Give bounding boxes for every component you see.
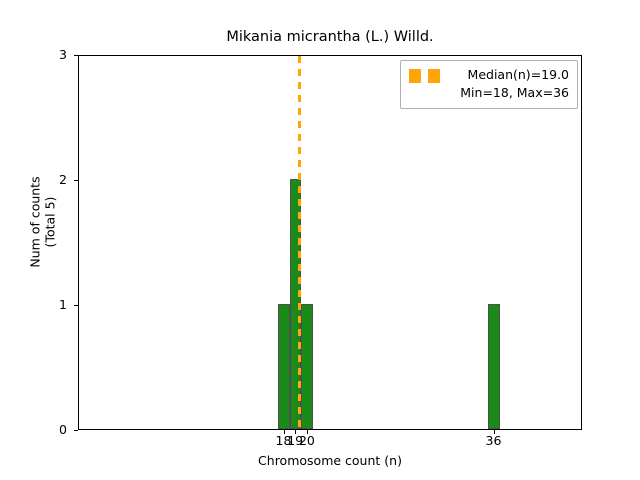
- y-tick-label-1: 1: [59, 299, 67, 311]
- x-tick-label-36: 36: [479, 434, 509, 448]
- legend-dashed-line-swatch: [409, 69, 445, 83]
- legend-entry-median: Median(n)=19.0 Min=18, Max=36: [409, 66, 569, 102]
- legend-entry-label: Median(n)=19.0 Min=18, Max=36: [454, 66, 569, 102]
- bar-18: [278, 304, 290, 429]
- bar-36: [488, 304, 500, 429]
- plot-area: [78, 55, 582, 430]
- legend-median-text: Median(n)=19.0: [468, 67, 569, 82]
- y-tick-label-3: 3: [59, 49, 67, 61]
- median-line: [298, 56, 301, 429]
- y-tick-label-2: 2: [59, 174, 67, 186]
- x-tick-label-20: 20: [292, 434, 322, 448]
- bar-20: [301, 304, 313, 429]
- legend-minmax-text: Min=18, Max=36: [460, 85, 569, 100]
- legend: Median(n)=19.0 Min=18, Max=36: [400, 60, 578, 109]
- y-axis-label-line2: (Total 5): [43, 197, 58, 248]
- y-axis-label-line1: Num of counts: [28, 176, 43, 267]
- chart-figure: Mikania micrantha (L.) Willd. 0 1 2 3 Nu…: [0, 0, 640, 480]
- y-axis-label: Num of counts (Total 5): [28, 35, 58, 410]
- y-tick-label-0: 0: [59, 424, 67, 436]
- chart-title: Mikania micrantha (L.) Willd.: [78, 29, 582, 45]
- x-axis-label: Chromosome count (n): [78, 453, 582, 468]
